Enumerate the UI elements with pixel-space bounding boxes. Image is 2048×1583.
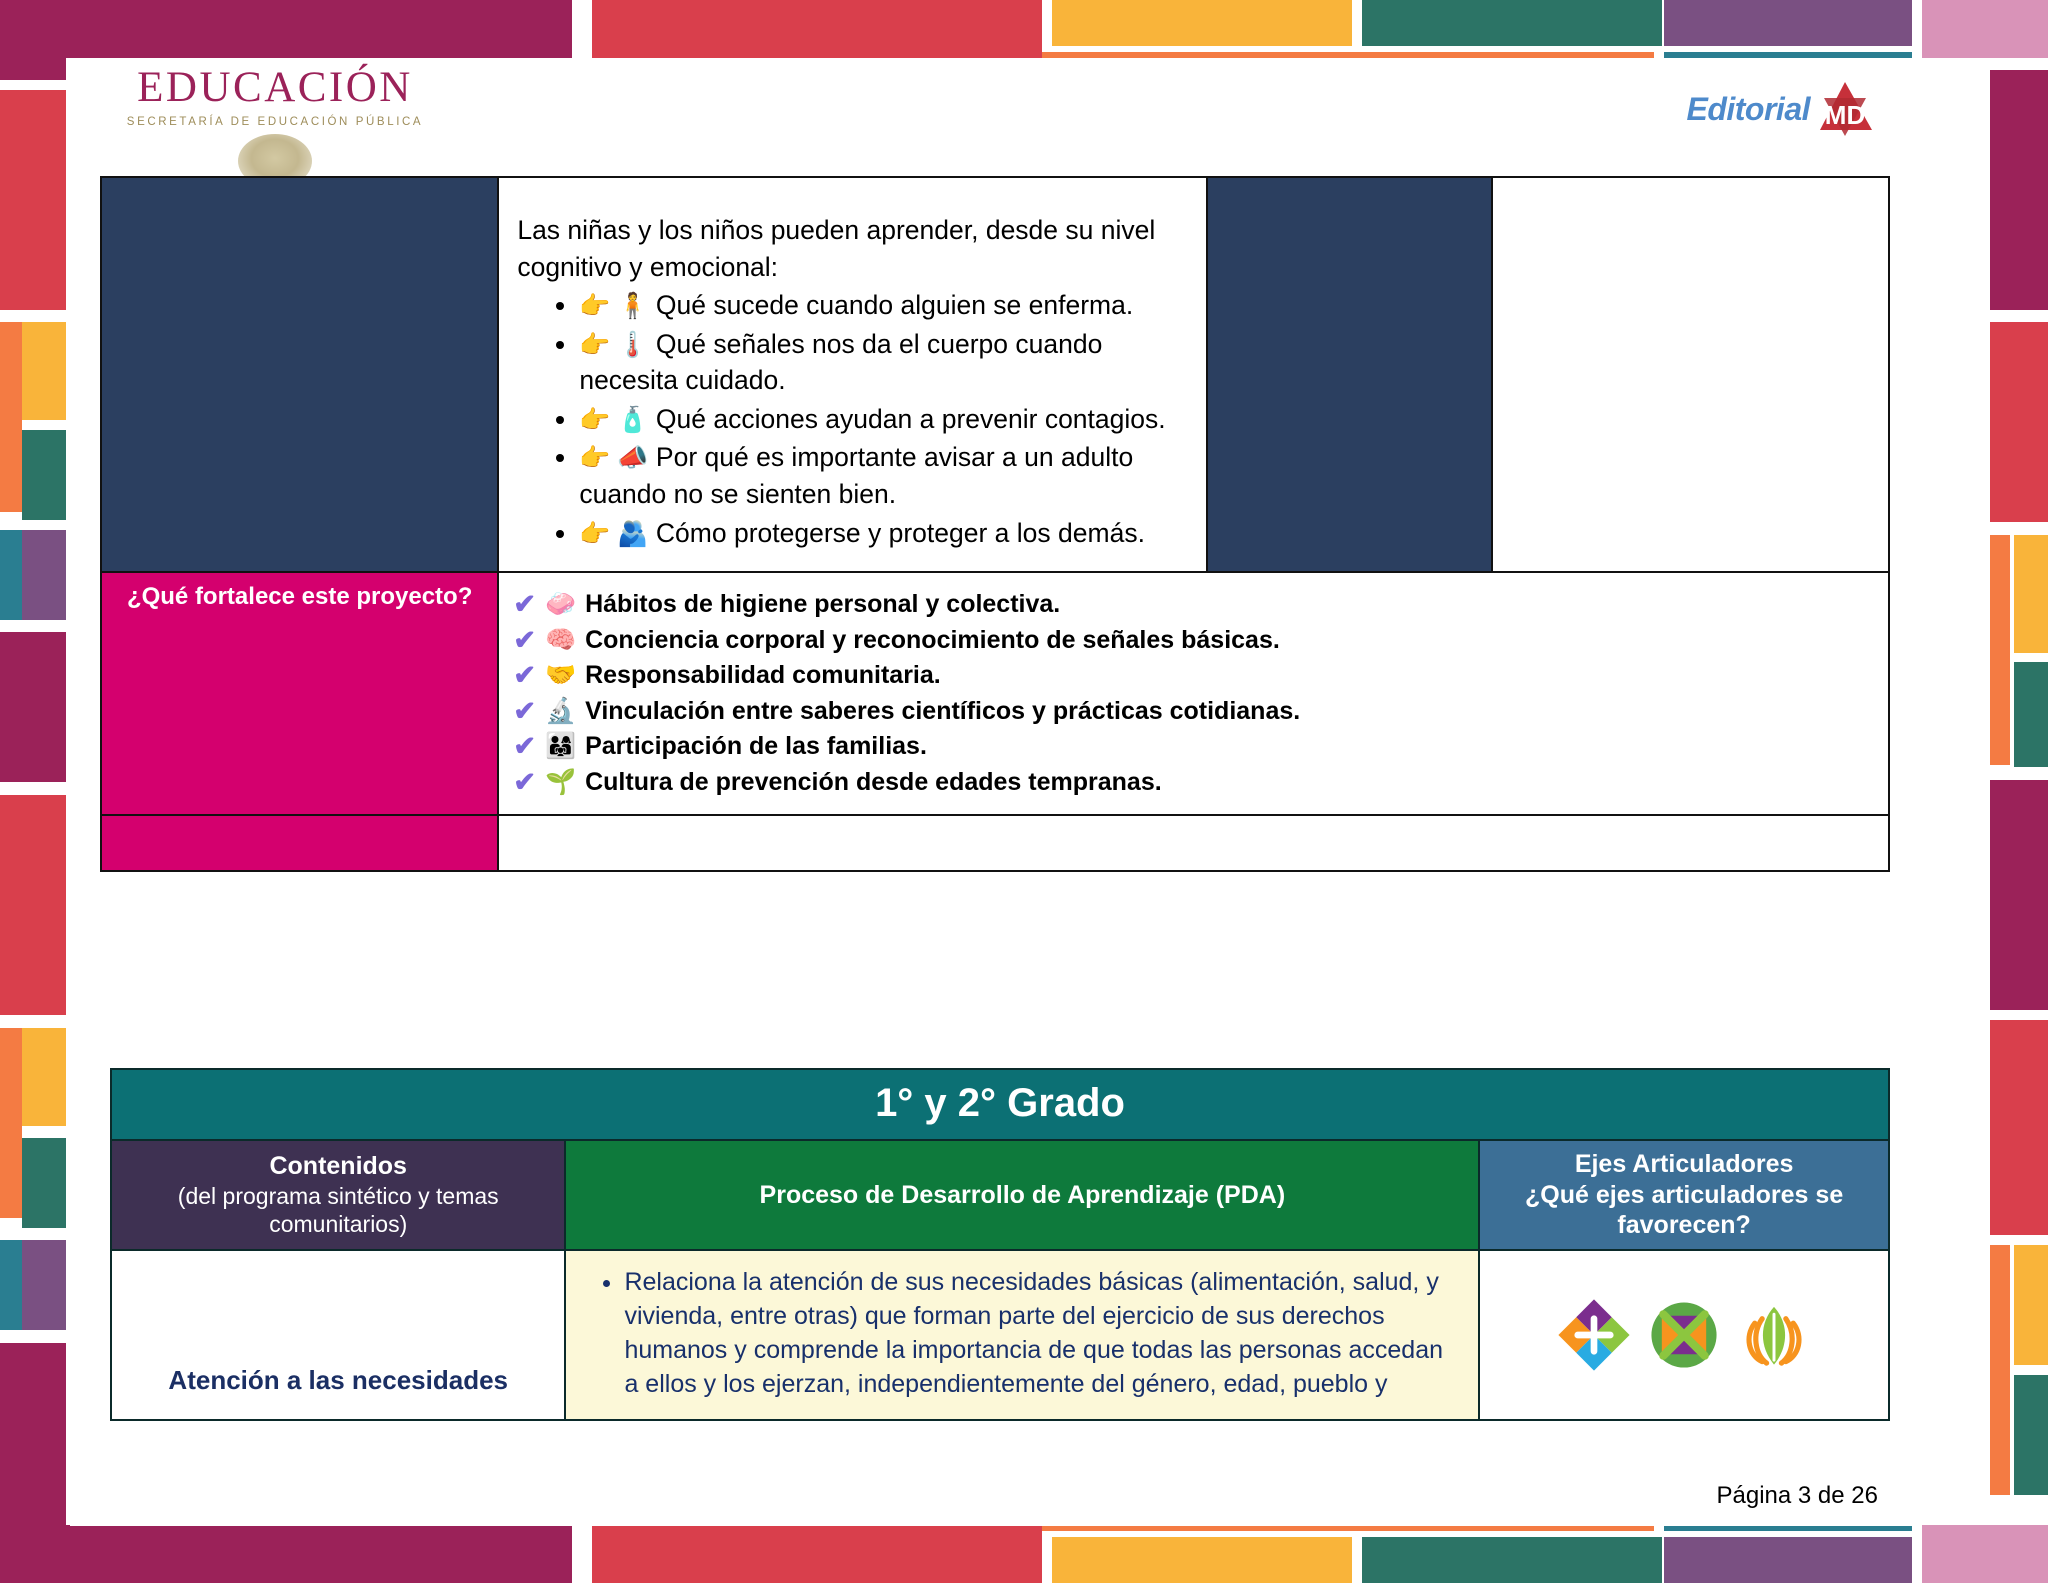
soap-icon: 🧼 — [545, 587, 576, 623]
family-icon: 👨‍👩‍👧 — [545, 729, 576, 765]
deco-block-left-yellow-1 — [22, 322, 66, 420]
deco-block-right-magenta-2 — [1990, 780, 2048, 1010]
deco-block-bottom-purple — [1664, 1537, 1912, 1583]
deco-block-right-pink-2 — [1922, 1525, 2048, 1583]
grade-content-row: Atención a las necesidades Relaciona la … — [111, 1250, 1889, 1420]
interculturalidad-circle-icon — [1647, 1298, 1721, 1372]
intro-bullet-list: 👉 🧍 Qué sucede cuando alguien se enferma… — [517, 287, 1184, 551]
list-item: ✔ 🤝 Responsabilidad comunitaria. — [513, 658, 1876, 694]
list-item-label: Por qué es importante avisar a un adulto… — [579, 442, 1133, 509]
deco-block-left-purple-2 — [22, 1240, 66, 1330]
editorial-md-mark-icon: MD — [1814, 80, 1876, 138]
grade-band-row: 1° y 2° Grado — [111, 1069, 1889, 1140]
svg-text:MD: MD — [1825, 100, 1865, 130]
list-item: ✔ 🧠 Conciencia corporal y reconocimiento… — [513, 623, 1876, 659]
fortalece-check-list: ✔ 🧼 Hábitos de higiene personal y colect… — [499, 573, 1888, 814]
table-row-fortalece: ¿Qué fortalece este proyecto? ✔ 🧼 Hábito… — [101, 572, 1889, 815]
cell-fortalece-list: ✔ 🧼 Hábitos de higiene personal y colect… — [498, 572, 1889, 815]
deco-block-left-magenta-1 — [0, 0, 66, 80]
list-item-label: Vinculación entre saberes científicos y … — [585, 694, 1300, 730]
page-number-label: Página 3 de 26 — [1717, 1482, 1878, 1510]
column-header-pda: Proceso de Desarrollo de Aprendizaje (PD… — [565, 1140, 1479, 1250]
column-header-contenidos-title: Contenidos — [118, 1151, 558, 1182]
handshake-icon: 🤝 — [545, 658, 576, 694]
list-item: ✔ 🌱 Cultura de prevención desde edades t… — [513, 765, 1876, 801]
deco-block-left-purple-1 — [22, 530, 66, 620]
list-item-label: Qué acciones ayudan a prevenir contagios… — [656, 404, 1166, 434]
cell-fortalece-label: ¿Qué fortalece este proyecto? — [101, 572, 498, 815]
deco-block-left-magenta-2 — [0, 632, 66, 782]
deco-block-bottom-yellow — [1052, 1537, 1352, 1583]
list-item-label: Participación de las familias. — [585, 729, 927, 765]
grade-section-table: 1° y 2° Grado Contenidos (del programa s… — [110, 1068, 1890, 1421]
deco-block-right-red-2 — [1990, 1020, 2048, 1235]
seedling-icon: 🌱 — [545, 765, 576, 801]
document-header: EDUCACIÓN SECRETARÍA DE EDUCACIÓN PÚBLIC… — [70, 58, 1922, 176]
sep-logo-wordmark: EDUCACIÓN — [110, 66, 440, 109]
deco-block-top-red — [592, 0, 1042, 58]
list-item-label: Qué sucede cuando alguien se enferma. — [656, 290, 1133, 320]
deco-block-top-yellow — [1052, 0, 1352, 46]
brain-icon: 🧠 — [545, 623, 576, 659]
deco-block-left-orange-2 — [0, 1028, 22, 1218]
cell-ejes-value — [1479, 1250, 1889, 1420]
cell-navy-left — [101, 177, 498, 572]
column-header-pda-title: Proceso de Desarrollo de Aprendizaje (PD… — [572, 1180, 1472, 1211]
cell-empty-magenta — [101, 815, 498, 871]
pointing-hand-hug-icon: 👉 🫂 — [579, 520, 648, 548]
cell-pda-value: Relaciona la atención de sus necesidades… — [565, 1250, 1479, 1420]
microscope-icon: 🔬 — [545, 694, 576, 730]
table-row-intro: Las niñas y los niños pueden aprender, d… — [101, 177, 1889, 572]
fortalece-label-text: ¿Qué fortalece este proyecto? — [127, 583, 472, 610]
deco-block-left-red-2 — [0, 795, 66, 1015]
column-header-contenidos: Contenidos (del programa sintético y tem… — [111, 1140, 565, 1250]
deco-block-left-teal-dark-1 — [0, 530, 22, 620]
grade-header-row: Contenidos (del programa sintético y tem… — [111, 1140, 1889, 1250]
deco-block-bottom-teal — [1362, 1537, 1662, 1583]
deco-block-top-teal — [1362, 0, 1662, 46]
deco-block-top-magenta — [0, 0, 572, 58]
intro-block: Las niñas y los niños pueden aprender, d… — [499, 178, 1206, 571]
cell-intro-text: Las niñas y los niños pueden aprender, d… — [498, 177, 1207, 572]
list-item: 👉 🫂 Cómo protegerse y proteger a los dem… — [579, 515, 1184, 552]
editorial-md-logo: Editorial MD — [1686, 80, 1876, 138]
document-sheet: EDUCACIÓN SECRETARÍA DE EDUCACIÓN PÚBLIC… — [70, 58, 1922, 1526]
sep-logo-subtitle: SECRETARÍA DE EDUCACIÓN PÚBLICA — [110, 116, 440, 128]
deco-block-left-yellow-2 — [22, 1028, 66, 1126]
deco-block-right-teal-1 — [2014, 662, 2048, 767]
check-icon: ✔ — [513, 623, 536, 658]
pointing-hand-thermometer-icon: 👉 🌡️ — [579, 331, 648, 359]
deco-block-right-orange-2 — [1990, 1245, 2010, 1495]
list-item: 👉 🧴 Qué acciones ayudan a prevenir conta… — [579, 401, 1184, 438]
column-header-ejes-title: Ejes Articuladores — [1486, 1149, 1882, 1180]
list-item: 👉 🧍 Qué sucede cuando alguien se enferma… — [579, 287, 1184, 324]
pointing-hand-person-icon: 👉 🧍 — [579, 292, 648, 320]
list-item-label: Cultura de prevención desde edades tempr… — [585, 765, 1162, 801]
deco-block-right-yellow-1 — [2014, 535, 2048, 653]
check-icon: ✔ — [513, 587, 536, 622]
deco-block-top-purple — [1664, 0, 1912, 46]
check-icon: ✔ — [513, 729, 536, 764]
deco-block-right-yellow-2 — [2014, 1245, 2048, 1365]
cell-blank-right — [1492, 177, 1889, 572]
vida-saludable-leaf-icon — [1737, 1298, 1811, 1372]
table-row-empty — [101, 815, 1889, 871]
grade-band-title: 1° y 2° Grado — [111, 1069, 1889, 1140]
list-item: ✔ 🧼 Hábitos de higiene personal y colect… — [513, 587, 1876, 623]
check-icon: ✔ — [513, 694, 536, 729]
list-item: Relaciona la atención de sus necesidades… — [624, 1265, 1462, 1401]
sep-logo: EDUCACIÓN SECRETARÍA DE EDUCACIÓN PÚBLIC… — [110, 66, 440, 188]
deco-block-left-teal-1 — [22, 430, 66, 520]
deco-block-right-teal-2 — [2014, 1375, 2048, 1495]
column-header-ejes-subtitle: ¿Qué ejes articuladores se favorecen? — [1486, 1180, 1882, 1241]
deco-block-bottom-magenta — [0, 1525, 572, 1583]
list-item: ✔ 👨‍👩‍👧 Participación de las familias. — [513, 729, 1876, 765]
list-item: 👉 📣 Por qué es importante avisar a un ad… — [579, 439, 1184, 512]
list-item: 👉 🌡️ Qué señales nos da el cuerpo cuando… — [579, 326, 1184, 399]
pointing-hand-soap-icon: 👉 🧴 — [579, 406, 648, 434]
pda-bullet-list: Relaciona la atención de sus necesidades… — [582, 1265, 1462, 1401]
project-info-table: Las niñas y los niños pueden aprender, d… — [100, 176, 1890, 872]
check-icon: ✔ — [513, 658, 536, 693]
list-item: ✔ 🔬 Vinculación entre saberes científico… — [513, 694, 1876, 730]
deco-block-right-red-1 — [1990, 322, 2048, 522]
list-item-label: Conciencia corporal y reconocimiento de … — [585, 623, 1280, 659]
page-frame: EDUCACIÓN SECRETARÍA DE EDUCACIÓN PÚBLIC… — [0, 0, 2048, 1583]
cell-navy-middle — [1207, 177, 1492, 572]
deco-block-left-teal-2 — [22, 1138, 66, 1228]
column-header-ejes: Ejes Articuladores ¿Qué ejes articulador… — [1479, 1140, 1889, 1250]
inclusion-diamond-icon — [1557, 1298, 1631, 1372]
check-icon: ✔ — [513, 765, 536, 800]
editorial-md-wordmark: Editorial — [1686, 91, 1810, 128]
deco-block-right-pink-1 — [1922, 0, 2048, 58]
deco-block-left-orange-1 — [0, 322, 22, 512]
pointing-hand-megaphone-icon: 👉 📣 — [579, 444, 648, 472]
list-item-label: Qué señales nos da el cuerpo cuando nece… — [579, 329, 1102, 396]
cell-contenido-value: Atención a las necesidades — [111, 1250, 565, 1420]
deco-block-right-magenta-1 — [1990, 70, 2048, 310]
list-item-label: Cómo protegerse y proteger a los demás. — [656, 518, 1145, 548]
ejes-icon-group — [1488, 1298, 1880, 1372]
list-item-label: Responsabilidad comunitaria. — [585, 658, 941, 694]
intro-lead: Las niñas y los niños pueden aprender, d… — [517, 212, 1184, 285]
column-header-contenidos-subtitle: (del programa sintético y temas comunita… — [118, 1182, 558, 1238]
deco-block-bottom-red — [592, 1525, 1042, 1583]
deco-block-left-teal-dark-2 — [0, 1240, 22, 1330]
list-item-label: Hábitos de higiene personal y colectiva. — [585, 587, 1060, 623]
cell-empty-white — [498, 815, 1889, 871]
deco-block-right-orange-1 — [1990, 535, 2010, 765]
deco-block-left-red-1 — [0, 90, 66, 310]
